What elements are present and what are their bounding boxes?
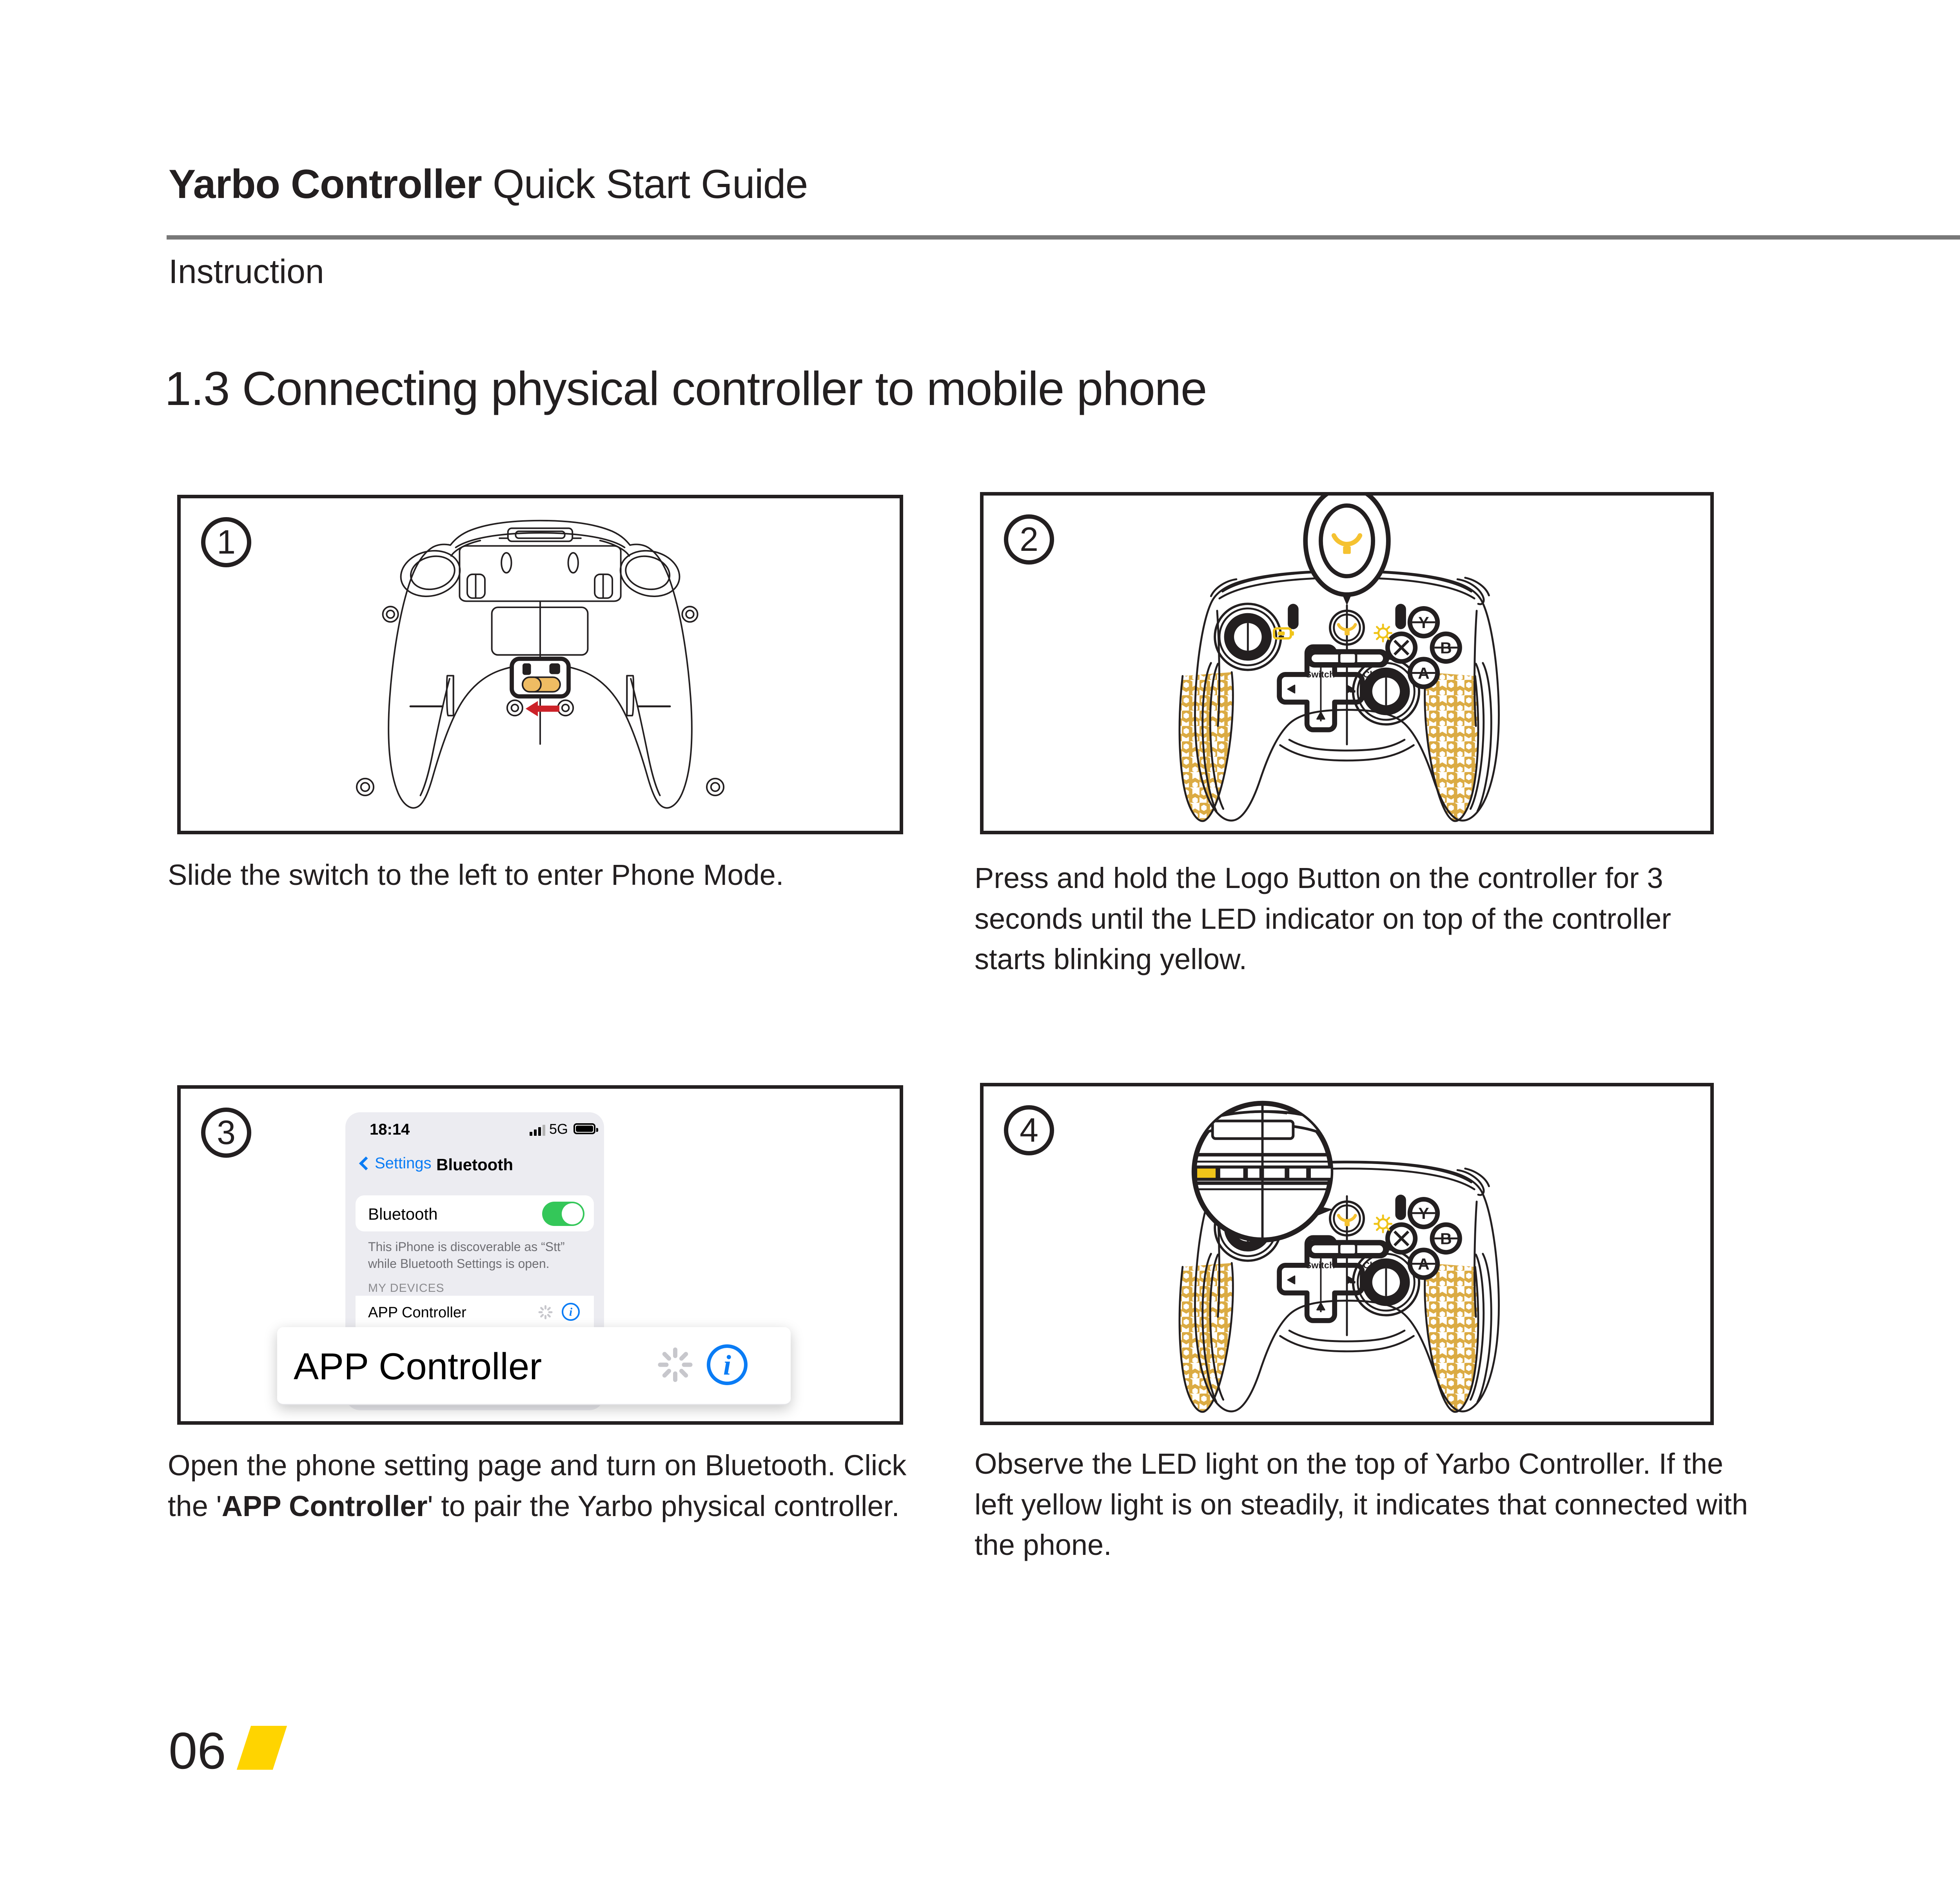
list-item[interactable]: APP Controller i	[368, 1296, 594, 1329]
button-x	[1385, 632, 1417, 664]
brand-name: Yarbo Controller	[169, 162, 482, 207]
device-name: APP Controller	[368, 1304, 466, 1321]
figure-panel-step-4: 4	[980, 1083, 1714, 1425]
magnified-device-name: APP Controller	[294, 1345, 542, 1388]
brightness-icon	[1375, 1215, 1392, 1232]
rocker-label-switch: Switch	[1305, 669, 1335, 679]
page-accent-mark	[237, 1726, 287, 1770]
led-segment-lit	[1197, 1169, 1216, 1178]
info-circle-icon[interactable]: i	[562, 1303, 580, 1321]
controller-led-illustration: Y B A Switch Clear	[984, 1086, 1710, 1422]
button-x	[1385, 1222, 1417, 1255]
bluetooth-toggle-switch[interactable]	[542, 1202, 584, 1226]
document-type: Quick Start Guide	[493, 162, 808, 207]
rocker-label-clear: Clear	[1363, 1260, 1386, 1270]
controller-back-illustration	[181, 498, 900, 831]
bluetooth-toggle-row[interactable]: Bluetooth	[356, 1195, 594, 1231]
section-title: 1.3 Connecting physical controller to mo…	[165, 365, 1207, 412]
battery-full-icon	[573, 1123, 595, 1134]
magnified-device-row[interactable]: APP Controller i	[277, 1327, 791, 1405]
logo-button-magnifier	[1305, 496, 1388, 605]
network-type-label: 5G	[549, 1121, 568, 1137]
button-y: Y	[1408, 1197, 1440, 1229]
rocker-label-clear: Clear	[1363, 669, 1386, 679]
page-root: Yarbo Controller Quick Start Guide Instr…	[0, 0, 1960, 1885]
button-b: B	[1430, 632, 1462, 664]
figure-panel-step-3: 3 18:14 5G Settings Bluetooth Bluetooth …	[177, 1085, 903, 1425]
button-a: A	[1408, 657, 1440, 689]
caption-step-4: Observe the LED light on the top of Yarb…	[975, 1444, 1766, 1565]
my-devices-header: MY DEVICES	[368, 1282, 445, 1295]
cellular-signal-icon	[530, 1124, 545, 1136]
phone-page-title: Bluetooth	[345, 1155, 604, 1174]
rocker-label-switch: Switch	[1305, 1260, 1335, 1270]
button-b: B	[1430, 1222, 1462, 1255]
controller-front-illustration: Y B A Switch Clear	[984, 496, 1710, 831]
caption-step-3-emphasis: APP Controller	[222, 1490, 428, 1522]
caption-step-2: Press and hold the Logo Button on the co…	[975, 858, 1743, 980]
bluetooth-discoverable-note: This iPhone is discoverable as “Stt” whi…	[368, 1239, 588, 1272]
direction-arrow-icon	[526, 701, 559, 716]
status-time: 18:14	[370, 1121, 410, 1139]
phone-status-bar: 18:14 5G	[345, 1112, 604, 1146]
brightness-icon	[1375, 625, 1392, 641]
button-a: A	[1408, 1248, 1440, 1280]
figure-panel-step-2: 2	[980, 492, 1714, 834]
instruction-label: Instruction	[169, 255, 324, 289]
loading-spinner-icon	[657, 1347, 692, 1382]
phone-nav-bar: Settings Bluetooth	[345, 1150, 604, 1179]
document-header-title: Yarbo Controller Quick Start Guide	[169, 164, 808, 205]
button-y: Y	[1408, 606, 1440, 638]
page-number: 06	[169, 1725, 226, 1777]
mode-switch-illustration	[512, 659, 569, 696]
figure-panel-step-1: 1	[177, 495, 903, 834]
loading-spinner-icon	[538, 1305, 552, 1319]
header-divider	[167, 235, 1960, 240]
bluetooth-label: Bluetooth	[368, 1205, 437, 1224]
caption-step-1: Slide the switch to the left to enter Ph…	[168, 855, 913, 895]
step-number-badge-3: 3	[201, 1108, 251, 1158]
led-strip-magnifier	[1187, 1103, 1337, 1240]
caption-step-3-part-3: ' to pair the Yarbo physical controller.	[428, 1490, 900, 1522]
caption-step-3: Open the phone setting page and turn on …	[168, 1445, 944, 1526]
info-circle-icon[interactable]: i	[707, 1344, 748, 1385]
